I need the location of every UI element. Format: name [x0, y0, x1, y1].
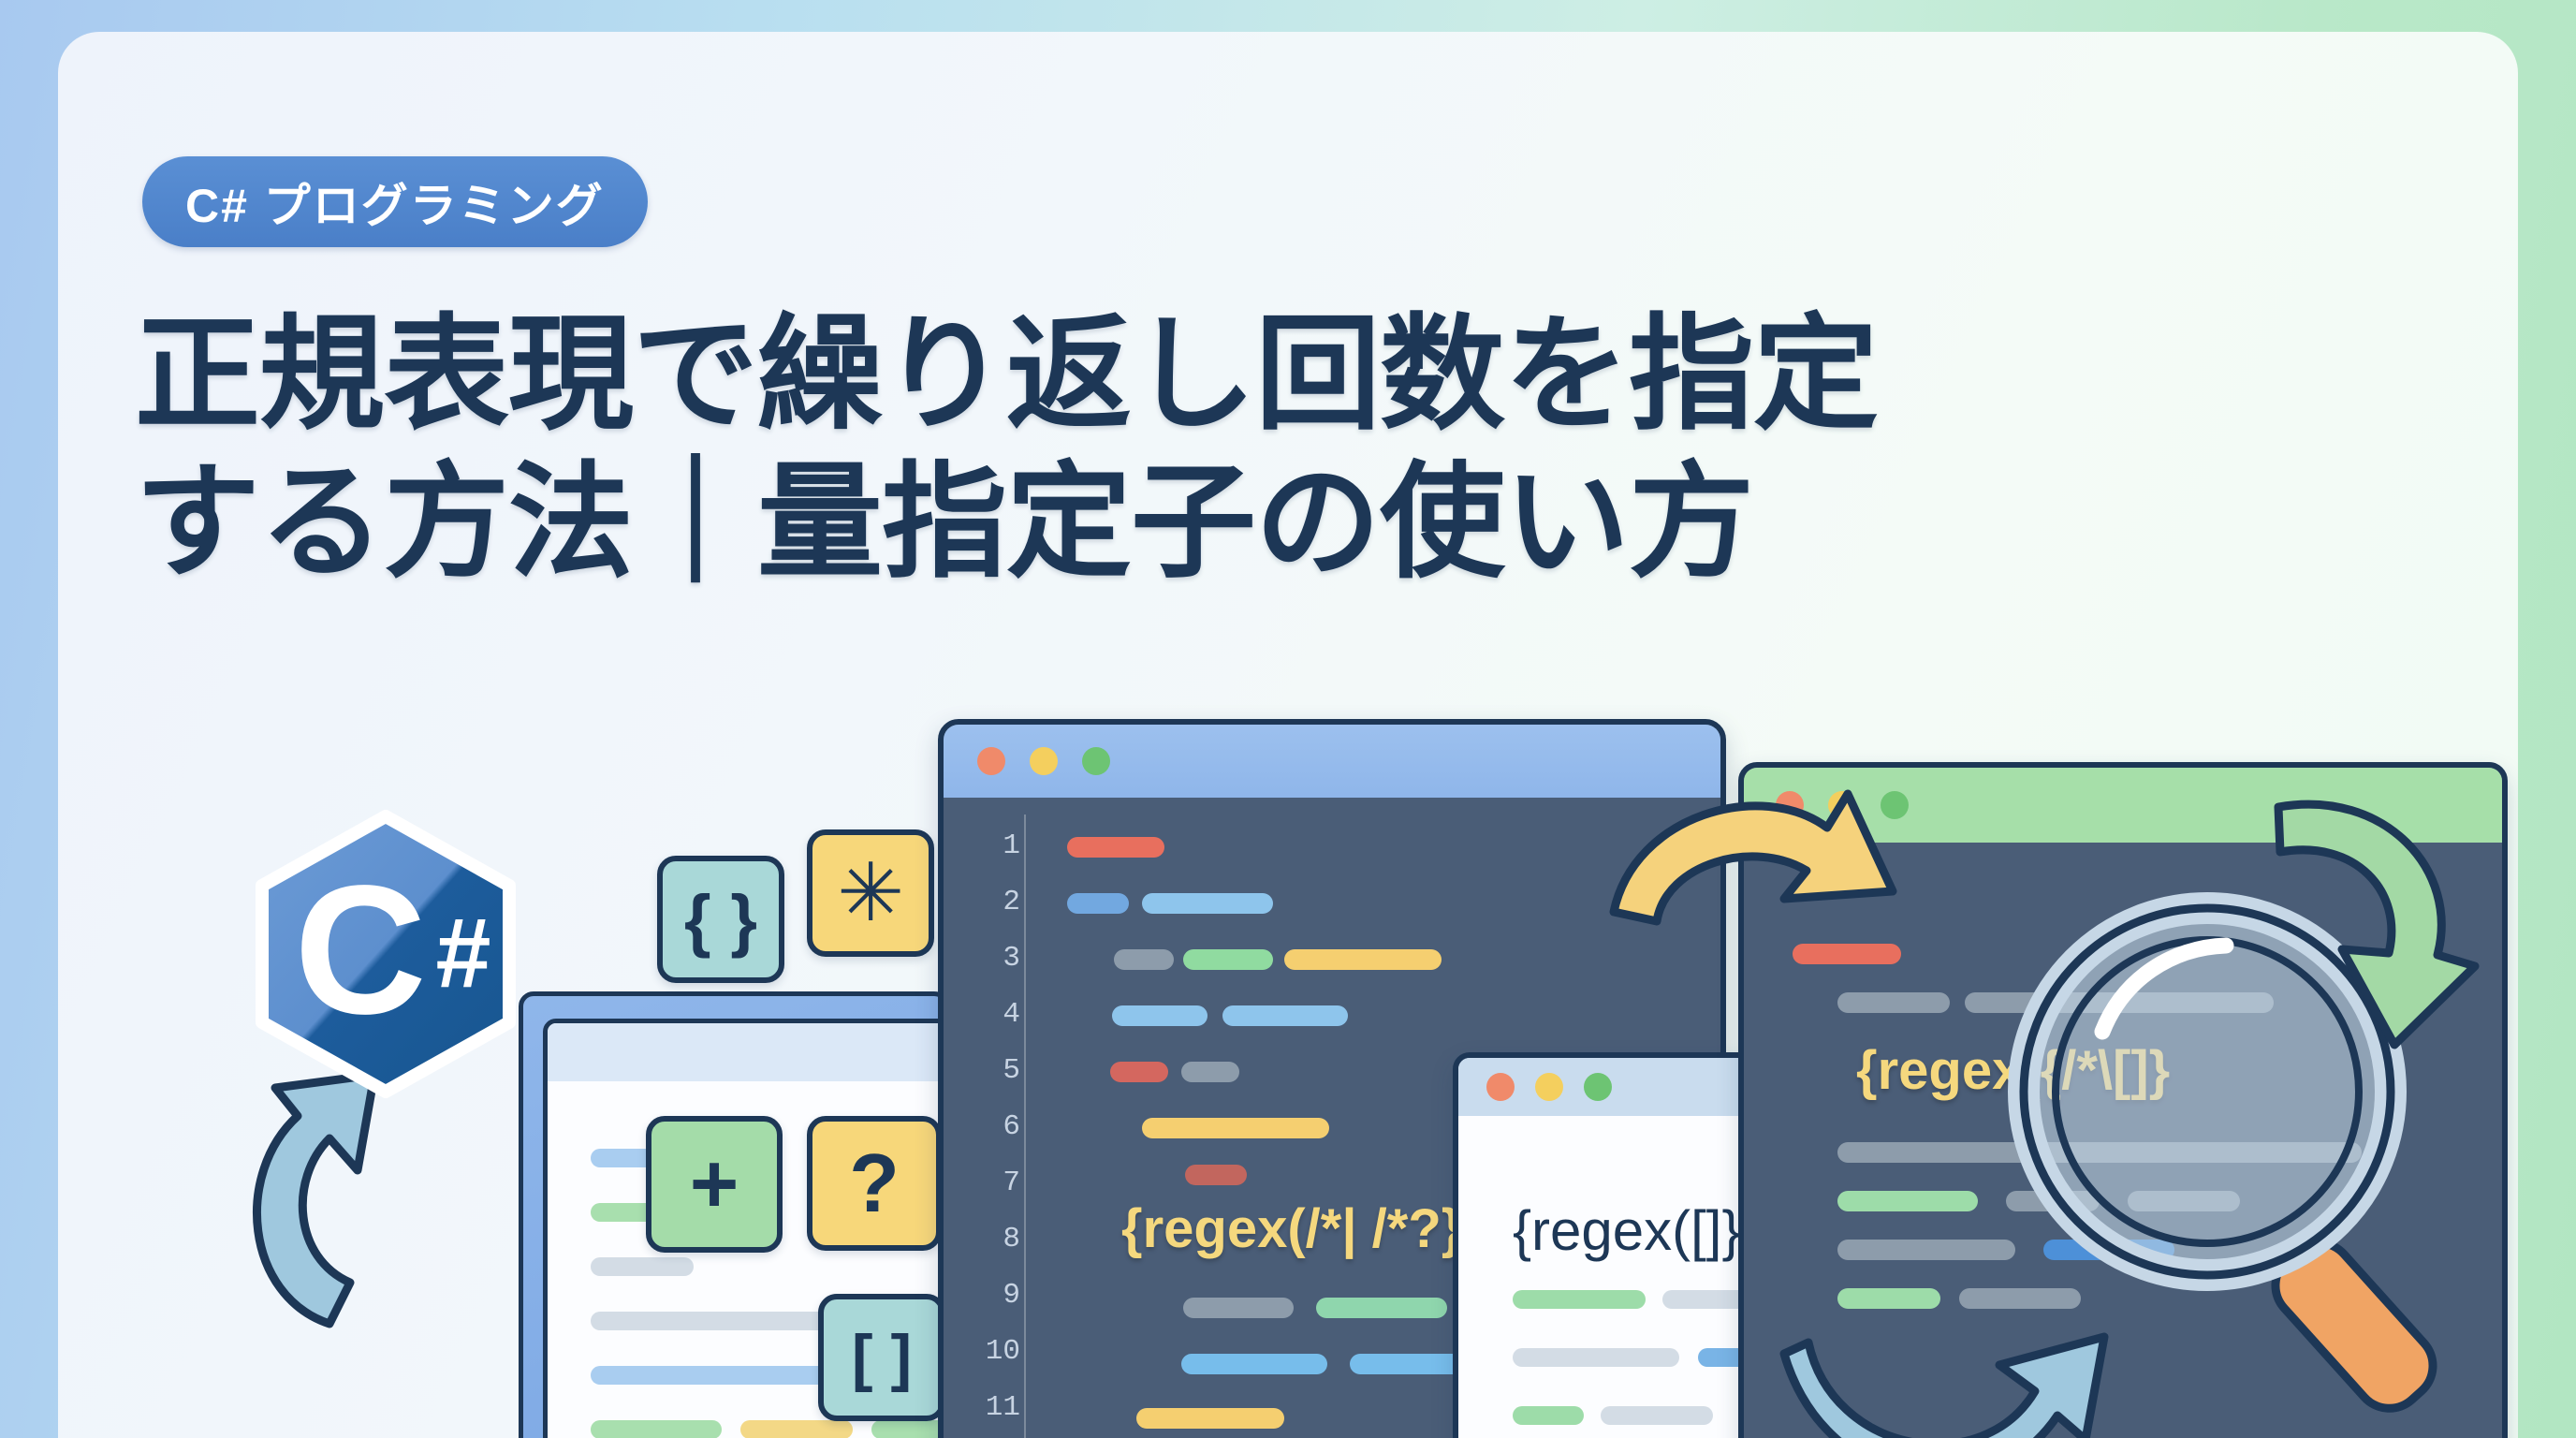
code-token	[1142, 1118, 1329, 1138]
csharp-hexagon-logo: C #	[250, 809, 521, 1099]
code-token	[1136, 1408, 1284, 1429]
page-title: 正規表現で繰り返し回数を指定 する方法｜量指定子の使い方	[135, 301, 2400, 597]
tile-asterisk-symbol: ✳	[837, 846, 904, 940]
page-title-line-2: する方法｜量指定子の使い方	[135, 449, 2400, 597]
popup-code-overlay: {regex([]}	[1513, 1198, 1741, 1263]
traffic-light-close-icon[interactable]	[977, 747, 1005, 775]
poster-canvas: C# プログラミング 正規表現で繰り返し回数を指定 する方法｜量指定子の使い方	[0, 0, 2576, 1438]
tile-plus[interactable]: +	[646, 1116, 783, 1253]
category-badge-label: C# プログラミング	[185, 169, 605, 236]
line-number: 1	[970, 829, 1020, 862]
code-token	[1142, 893, 1273, 914]
tile-brackets[interactable]: [ ]	[818, 1294, 945, 1421]
content-card: C# プログラミング 正規表現で繰り返し回数を指定 する方法｜量指定子の使い方	[58, 32, 2518, 1438]
line-number: 11	[955, 1391, 1020, 1424]
traffic-light-maximize-icon[interactable]	[1082, 747, 1110, 775]
category-badge: C# プログラミング	[142, 156, 648, 247]
code-token	[1284, 949, 1442, 970]
line-number: 7	[970, 1167, 1020, 1199]
doc-text-line	[591, 1420, 722, 1438]
code-token	[1110, 1062, 1168, 1082]
doc-text-line	[740, 1420, 853, 1438]
arrow-curved-blue-bottom	[1771, 1296, 2145, 1438]
csharp-letter-c: C	[294, 847, 427, 1052]
line-number: 5	[970, 1054, 1020, 1087]
tile-asterisk[interactable]: ✳	[807, 829, 934, 957]
tile-braces-symbol: { }	[684, 880, 757, 960]
traffic-light-close-icon[interactable]	[1486, 1073, 1515, 1101]
traffic-light-minimize-icon[interactable]	[1535, 1073, 1563, 1101]
code-token	[1181, 1354, 1327, 1374]
code-token	[1837, 1191, 1978, 1211]
popup-text-line	[1513, 1348, 1679, 1367]
traffic-light-minimize-icon[interactable]	[1030, 747, 1058, 775]
code-token	[1114, 949, 1174, 970]
code-token	[1185, 1165, 1247, 1185]
tile-brackets-symbol: [ ]	[852, 1321, 912, 1394]
line-number: 3	[970, 942, 1020, 975]
tile-braces[interactable]: { }	[657, 856, 784, 983]
arrow-curved-green-right	[2239, 771, 2518, 1080]
code-token	[1183, 949, 1273, 970]
code-token	[1067, 893, 1129, 914]
illustration-area: C #	[58, 753, 2518, 1438]
code-token	[1067, 837, 1164, 858]
tile-question-symbol: ?	[849, 1136, 900, 1231]
line-number: 4	[970, 998, 1020, 1031]
popup-text-line	[1601, 1406, 1713, 1425]
editor-gutter-divider	[1024, 814, 1026, 1438]
csharp-sharp-symbol: #	[436, 898, 491, 1008]
code-token	[1183, 1298, 1294, 1318]
editor-code-overlay: {regex(/*| /*?}	[1121, 1197, 1462, 1260]
tile-plus-symbol: +	[690, 1137, 739, 1233]
popup-text-line	[1513, 1406, 1584, 1425]
doc-text-line	[591, 1257, 694, 1276]
code-token	[1837, 1240, 2015, 1260]
line-number: 8	[970, 1223, 1020, 1255]
traffic-light-maximize-icon[interactable]	[1584, 1073, 1612, 1101]
tile-question[interactable]: ?	[807, 1116, 942, 1251]
code-token	[1316, 1298, 1447, 1318]
line-number: 6	[970, 1110, 1020, 1143]
popup-text-line	[1513, 1290, 1646, 1309]
code-token	[1112, 1005, 1207, 1026]
page-title-line-1: 正規表現で繰り返し回数を指定	[135, 301, 2400, 449]
line-number: 2	[970, 886, 1020, 918]
code-token	[1222, 1005, 1348, 1026]
code-token	[1181, 1062, 1239, 1082]
code-token	[1837, 992, 1950, 1013]
arrow-curved-yellow-top	[1593, 771, 1930, 959]
line-number: 10	[955, 1335, 1020, 1368]
line-number: 9	[970, 1279, 1020, 1312]
